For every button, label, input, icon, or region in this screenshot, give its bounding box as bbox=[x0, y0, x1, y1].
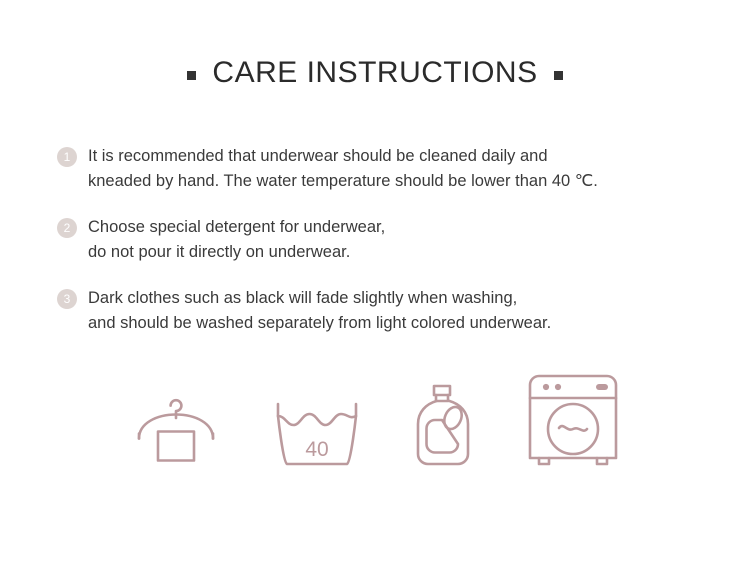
square-bullet-left-icon bbox=[187, 71, 196, 80]
page-title: CARE INSTRUCTIONS bbox=[212, 58, 537, 88]
list-item-line: kneaded by hand. The water temperature s… bbox=[88, 169, 717, 194]
icon-cell-detergent-bottle bbox=[412, 368, 474, 468]
clothes-hanger-icon bbox=[130, 390, 222, 468]
list-item-line: Dark clothes such as black will fade sli… bbox=[88, 286, 717, 311]
list-item-text: Choose special detergent for underwear, … bbox=[88, 215, 717, 265]
list-item: 3 Dark clothes such as black will fade s… bbox=[57, 286, 717, 336]
list-item-line: do not pour it directly on underwear. bbox=[88, 240, 717, 265]
list-item-line: Choose special detergent for underwear, bbox=[88, 215, 717, 240]
list-item-text: Dark clothes such as black will fade sli… bbox=[88, 286, 717, 336]
page-title-row: CARE INSTRUCTIONS bbox=[0, 58, 750, 88]
care-symbol-row: 40 bbox=[0, 368, 750, 468]
list-item: 2 Choose special detergent for underwear… bbox=[57, 215, 717, 265]
step-number-badge: 3 bbox=[57, 289, 77, 309]
wash-tub-icon: 40 bbox=[274, 398, 360, 468]
wash-temperature-label: 40 bbox=[305, 438, 328, 461]
detergent-bottle-icon bbox=[412, 382, 474, 468]
list-item-line: It is recommended that underwear should … bbox=[88, 144, 717, 169]
icon-cell-wash-tub: 40 bbox=[274, 368, 360, 468]
list-item-text: It is recommended that underwear should … bbox=[88, 144, 717, 194]
washing-machine-icon bbox=[526, 372, 620, 468]
care-instructions-page: CARE INSTRUCTIONS 1 It is recommended th… bbox=[0, 0, 750, 572]
icon-cell-hanger bbox=[130, 368, 222, 468]
step-number-badge: 1 bbox=[57, 147, 77, 167]
list-item-line: and should be washed separately from lig… bbox=[88, 311, 717, 336]
icon-cell-washing-machine bbox=[526, 368, 620, 468]
square-bullet-right-icon bbox=[554, 71, 563, 80]
list-item: 1 It is recommended that underwear shoul… bbox=[57, 144, 717, 194]
step-number-badge: 2 bbox=[57, 218, 77, 238]
instruction-list: 1 It is recommended that underwear shoul… bbox=[57, 144, 717, 357]
